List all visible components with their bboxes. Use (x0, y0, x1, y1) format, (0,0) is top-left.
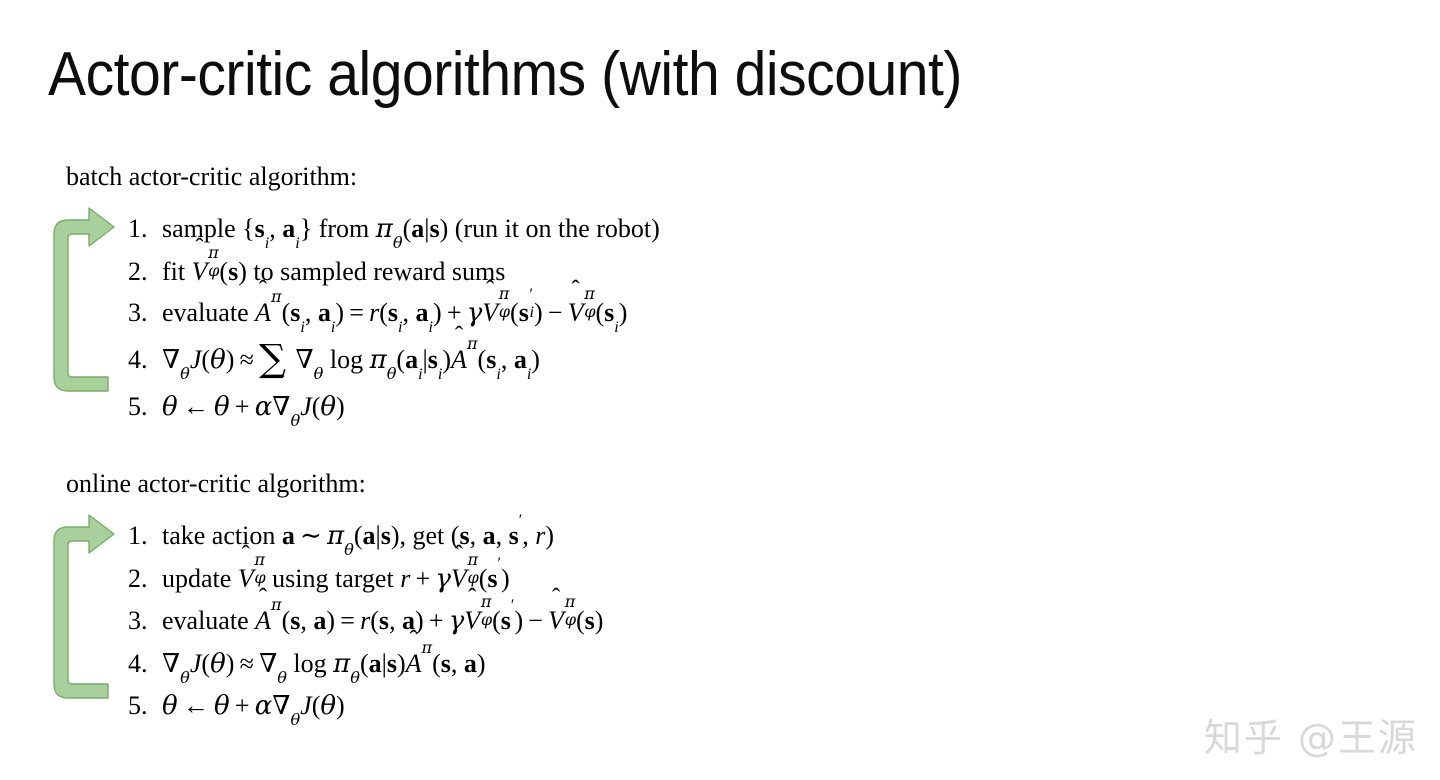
batch-step-3-content: evaluate ̂Aπ(si, ai)=r(si, ai)+γ̂Vπφ(s′i… (162, 298, 627, 327)
online-step-4: 4.∇θJ(θ)≈∇θ log πθ(a|s)̂Aπ(s, a) (128, 643, 603, 686)
batch-step-4-number: 4. (128, 339, 162, 381)
batch-algorithm-heading: batch actor-critic algorithm: (66, 162, 357, 192)
online-step-3: 3.evaluate ̂Aπ(s, a)=r(s, a)+γ̂Vπφ(s′)−̂… (128, 600, 603, 643)
batch-step-5: 5.θ←θ+α∇θJ(θ) (128, 386, 660, 429)
batch-step-2: 2.fit ̂Vπφ(s) to sampled reward sums (128, 251, 660, 293)
online-step-4-number: 4. (128, 643, 162, 685)
batch-loop-arrow (48, 205, 120, 410)
watermark: 知乎 @王源 (1204, 707, 1418, 762)
batch-step-1-number: 1. (128, 208, 162, 250)
online-loop-arrow (48, 512, 120, 717)
batch-step-4-content: ∇θJ(θ)≈∑i ∇θ log πθ(ai|si)̂Aπ(si, ai) (162, 345, 540, 374)
online-step-3-number: 3. (128, 600, 162, 642)
online-step-5: 5.θ←θ+α∇θJ(θ) (128, 685, 603, 728)
online-step-3-content: evaluate ̂Aπ(s, a)=r(s, a)+γ̂Vπφ(s′)−̂Vπ… (162, 606, 603, 635)
online-algorithm-steps: 1.take action a∼πθ(a|s), get (s, a, s′, … (128, 515, 603, 728)
batch-step-1-content: sample {si, ai} from πθ(a|s) (run it on … (162, 214, 660, 243)
batch-step-2-number: 2. (128, 251, 162, 293)
online-step-2: 2.update ̂Vπφ using target r+γ̂Vπφ(s′) (128, 558, 603, 601)
online-step-5-content: θ←θ+α∇θJ(θ) (162, 691, 345, 720)
online-step-4-content: ∇θJ(θ)≈∇θ log πθ(a|s)̂Aπ(s, a) (162, 649, 486, 678)
online-step-2-number: 2. (128, 558, 162, 600)
page-title: Actor-critic algorithms (with discount) (48, 42, 962, 107)
online-algorithm-heading: online actor-critic algorithm: (66, 469, 366, 499)
batch-algorithm-steps: 1.sample {si, ai} from πθ(a|s) (run it o… (128, 208, 660, 429)
batch-step-5-number: 5. (128, 386, 162, 428)
batch-step-3-number: 3. (128, 292, 162, 334)
online-loop-arrow-svg (48, 512, 120, 712)
batch-step-3: 3.evaluate ̂Aπ(si, ai)=r(si, ai)+γ̂Vπφ(s… (128, 292, 660, 335)
online-step-1-number: 1. (128, 515, 162, 557)
online-step-5-number: 5. (128, 685, 162, 727)
batch-step-4: 4.∇θJ(θ)≈∑i ∇θ log πθ(ai|si)̂Aπ(si, ai) (128, 335, 660, 387)
online-step-1: 1.take action a∼πθ(a|s), get (s, a, s′, … (128, 515, 603, 558)
batch-step-5-content: θ←θ+α∇θJ(θ) (162, 392, 345, 421)
batch-loop-arrow-svg (48, 205, 120, 405)
online-step-2-content: update ̂Vπφ using target r+γ̂Vπφ(s′) (162, 564, 510, 593)
batch-step-2-content: fit ̂Vπφ(s) to sampled reward sums (162, 257, 505, 286)
online-step-1-content: take action a∼πθ(a|s), get (s, a, s′, r) (162, 521, 554, 550)
